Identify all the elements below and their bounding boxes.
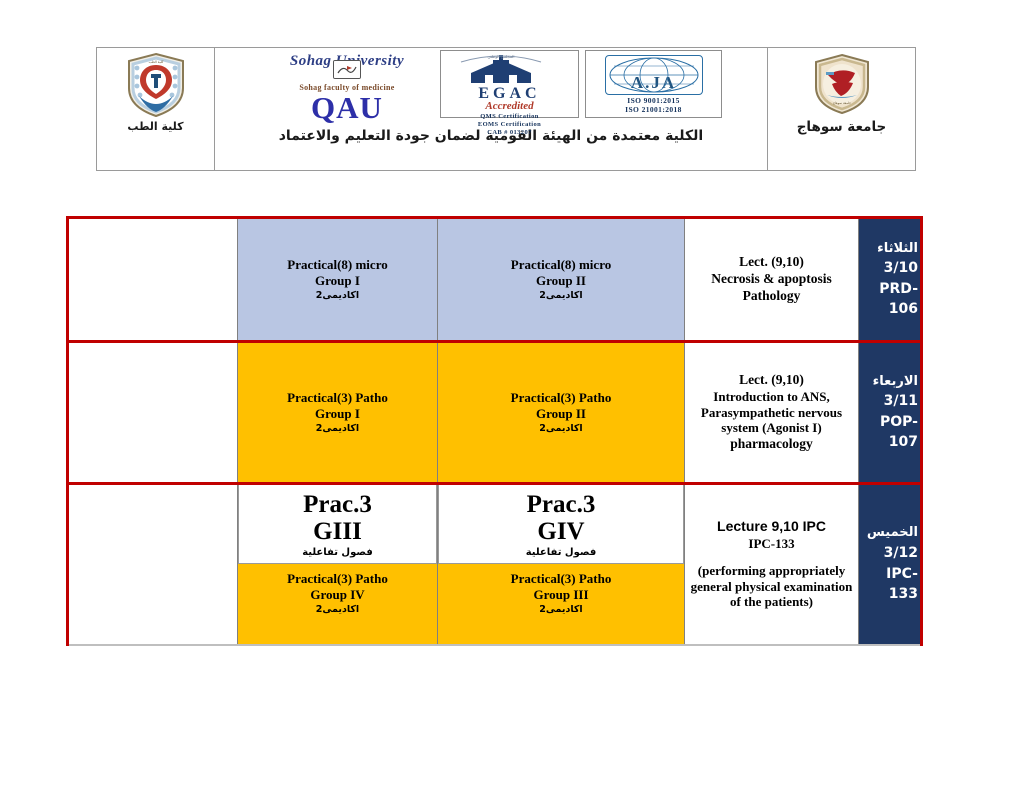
svg-text:المجلس الوطني: المجلس الوطني xyxy=(487,54,514,59)
day-name-arabic: الاربعاء xyxy=(859,373,918,392)
date-cell: الثلاثاء 3/10 PRD- 106 xyxy=(859,218,922,342)
session-group: GIV xyxy=(439,518,683,545)
practical-group: Group IV xyxy=(238,587,437,603)
svg-text:كلية الطب: كلية الطب xyxy=(148,60,163,64)
room-code-part2: 133 xyxy=(859,584,918,604)
egac-accredited-text: Accredited xyxy=(441,101,578,112)
lecture-cell: Lect. (9,10) Introduction to ANS, Parasy… xyxy=(685,342,859,484)
header-center-cell: Sohag University Sohag faculty of medici… xyxy=(215,48,767,170)
practical-cell-group-1: Practical(8) micro Group I اكاديمى2 xyxy=(238,218,438,342)
date-stack: الثلاثاء 3/10 PRD- 106 xyxy=(859,240,920,320)
lecture-line: Pathology xyxy=(685,288,858,305)
row-empty-cell xyxy=(68,218,238,342)
lecture-line: Lect. (9,10) xyxy=(685,254,858,271)
practical-group: Group I xyxy=(238,406,437,422)
date-stack: الاربعاء 3/11 POP- 107 xyxy=(859,373,920,453)
lecture-line: general physical examination xyxy=(685,579,858,595)
practical-title: Practical(8) micro xyxy=(438,257,684,273)
qau-acronym: QAU xyxy=(260,93,434,122)
qau-logo: Sohag University Sohag faculty of medici… xyxy=(260,50,434,122)
lecture-line: Necrosis & apoptosis xyxy=(685,271,858,288)
practical-split-cell-group-2: Prac.3 GIV فصول تفاعلية Practical(3) Pat… xyxy=(438,484,685,645)
date-value: 3/12 xyxy=(859,543,918,563)
room-code-part2: 107 xyxy=(859,432,918,452)
session-room: فصول تفاعلية xyxy=(239,547,436,558)
faculty-of-medicine-caption: كلية الطب xyxy=(127,120,183,134)
practical-group: Group II xyxy=(438,273,684,289)
session-title: Prac.3 xyxy=(239,491,436,518)
practical-room: اكاديمى2 xyxy=(438,604,684,616)
table-row: Prac.3 GIII فصول تفاعلية Practical(3) Pa… xyxy=(68,484,922,645)
lecture-line: Parasympathetic nervous xyxy=(685,405,858,421)
lecture-line: pharmacology xyxy=(685,436,858,453)
header-logo-row: Sohag University Sohag faculty of medici… xyxy=(215,50,767,124)
practical-room: اكاديمى2 xyxy=(438,423,684,435)
date-value: 3/11 xyxy=(859,391,918,411)
aja-globe-icon xyxy=(605,55,703,95)
practical-title: Practical(3) Patho xyxy=(238,390,437,406)
date-value: 3/10 xyxy=(859,258,918,278)
date-cell: الاربعاء 3/11 POP- 107 xyxy=(859,342,922,484)
practical-cell-group-1: Practical(3) Patho Group I اكاديمى2 xyxy=(238,342,438,484)
practical-title: Practical(3) Patho xyxy=(238,571,437,587)
lecture-line: system (Agonist I) xyxy=(685,420,858,436)
row-empty-cell xyxy=(68,342,238,484)
room-code-part1: POP- xyxy=(859,412,918,432)
lecture-line: (performing appropriately xyxy=(685,563,858,579)
qau-badge-icon xyxy=(333,60,361,79)
room-code-part2: 106 xyxy=(859,299,918,319)
table-row: Practical(8) micro Group I اكاديمى2 Prac… xyxy=(68,218,922,342)
aja-certificate-logo: A.JA ISO 9001:2015 ISO 21001:2018 xyxy=(585,50,722,118)
sohag-university-caption: جامعة سوهاج xyxy=(797,119,887,136)
sohag-university-crest-icon: جامعة سوهاج xyxy=(811,53,873,115)
lecture-cell: Lecture 9,10 IPC IPC-133 (performing app… xyxy=(685,484,859,645)
header-right-logo-cell: جامعة سوهاج جامعة سوهاج xyxy=(767,48,915,170)
egac-certificate-logo: المجلس الوطني EGAC Accredited QMS Certif… xyxy=(440,50,579,118)
room-code-part1: PRD- xyxy=(859,279,918,299)
room-code-part1: IPC- xyxy=(859,564,918,584)
weekly-schedule-table: Practical(8) micro Group I اكاديمى2 Prac… xyxy=(66,216,923,646)
aja-iso-lines: ISO 9001:2015 ISO 21001:2018 xyxy=(586,96,721,115)
practical-title: Practical(8) micro xyxy=(238,257,437,273)
practical-cell-group-2: Practical(3) Patho Group II اكاديمى2 xyxy=(438,342,685,484)
row-empty-cell xyxy=(68,484,238,645)
practical-block: Practical(3) Patho Group III اكاديمى2 xyxy=(438,564,684,638)
svg-text:جامعة سوهاج: جامعة سوهاج xyxy=(833,101,851,105)
lecture-cell: Lect. (9,10) Necrosis & apoptosis Pathol… xyxy=(685,218,859,342)
lecture-line: of the patients) xyxy=(685,594,858,610)
practical-room: اكاديمى2 xyxy=(238,423,437,435)
day-name-arabic: الخميس xyxy=(859,524,918,543)
practical-block: Practical(3) Patho Group IV اكاديمى2 xyxy=(238,564,437,638)
session-room: فصول تفاعلية xyxy=(439,547,683,558)
session-title: Prac.3 xyxy=(439,491,683,518)
day-name-arabic: الثلاثاء xyxy=(859,240,918,259)
lecture-line: Lect. (9,10) xyxy=(685,372,858,389)
accreditation-header-banner: كلية الطب كلية الطب Sohag University Soh… xyxy=(96,47,916,171)
practical-split-cell-group-1: Prac.3 GIII فصول تفاعلية Practical(3) Pa… xyxy=(238,484,438,645)
header-left-logo-cell: كلية الطب كلية الطب xyxy=(97,48,215,170)
practical-title: Practical(3) Patho xyxy=(438,571,684,587)
practical-title: Practical(3) Patho xyxy=(438,390,684,406)
lecture-line: Introduction to ANS, xyxy=(685,389,858,405)
practical-group: Group III xyxy=(438,587,684,603)
date-cell: الخميس 3/12 IPC- 133 xyxy=(859,484,922,645)
faculty-of-medicine-crest-icon: كلية الطب xyxy=(125,52,187,118)
practical-group: Group I xyxy=(238,273,437,289)
date-stack: الخميس 3/12 IPC- 133 xyxy=(859,524,920,604)
interactive-session-block: Prac.3 GIII فصول تفاعلية xyxy=(238,485,437,564)
practical-room: اكاديمى2 xyxy=(238,290,437,302)
table-row: Practical(3) Patho Group I اكاديمى2 Prac… xyxy=(68,342,922,484)
practical-group: Group II xyxy=(438,406,684,422)
practical-cell-group-2: Practical(8) micro Group II اكاديمى2 xyxy=(438,218,685,342)
practical-room: اكاديمى2 xyxy=(438,290,684,302)
practical-room: اكاديمى2 xyxy=(238,604,437,616)
interactive-session-block: Prac.3 GIV فصول تفاعلية xyxy=(438,485,684,564)
session-group: GIII xyxy=(239,518,436,545)
egac-certification-lines: QMS Certification EOMS Certification CAB… xyxy=(441,113,578,137)
lecture-line: Lecture 9,10 IPC xyxy=(685,518,858,536)
lecture-code: IPC-133 xyxy=(685,536,858,552)
